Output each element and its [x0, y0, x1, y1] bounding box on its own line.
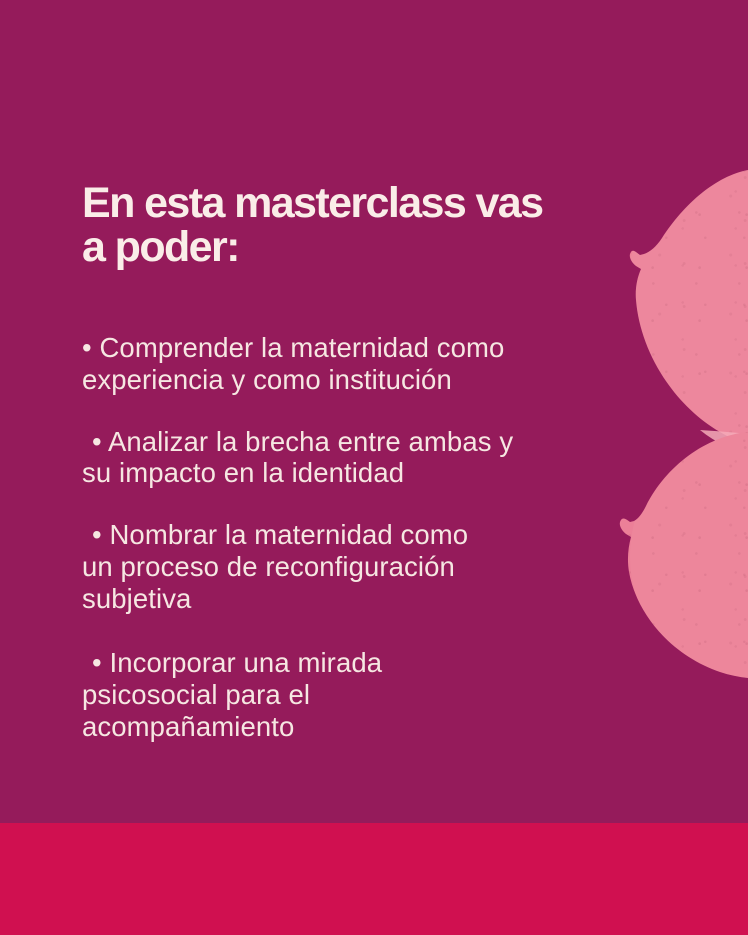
bottom-accent-band [0, 823, 748, 935]
petal-shape-top [600, 150, 748, 470]
list-item: • Comprender la maternidad como experien… [82, 332, 622, 396]
list-item: • Nombrar la maternidad como un proceso … [82, 519, 622, 615]
list-item: • Incorporar una mirada psicosocial para… [82, 647, 622, 743]
list-item: • Analizar la brecha entre ambas y su im… [82, 426, 622, 490]
petal-shape-bottom [600, 420, 748, 700]
benefits-list: • Comprender la maternidad como experien… [82, 332, 622, 743]
petal-overlap-highlight [700, 430, 748, 454]
slide-content: En esta masterclass vas a poder: • Compr… [82, 182, 622, 743]
masterclass-slide: En esta masterclass vas a poder: • Compr… [0, 0, 748, 935]
slide-heading: En esta masterclass vas a poder: [82, 182, 622, 270]
